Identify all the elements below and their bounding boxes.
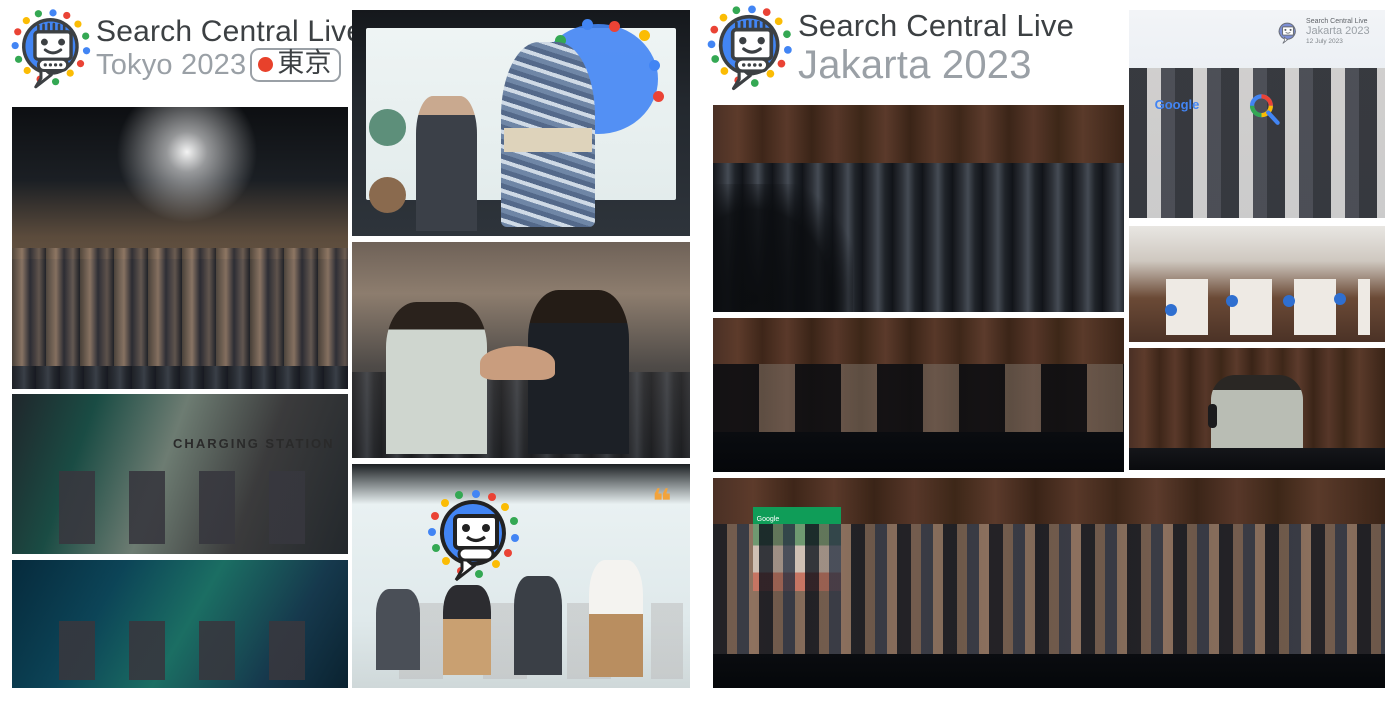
jakarta-panel-discussion-photo (713, 318, 1124, 472)
japan-flag-icon (258, 57, 273, 72)
tote-bag-logo-icon (1283, 295, 1295, 307)
collage-canvas: Search Central Live Tokyo 2023 東京 (0, 0, 1400, 704)
tokyo-title-block: Search Central Live Tokyo 2023 東京 (96, 16, 363, 81)
mascot-graphic-on-screen (426, 486, 526, 586)
quote-mark-icon: ❝ (652, 482, 670, 522)
jakarta-event-header: Search Central Live Jakarta 2023 (706, 2, 1074, 94)
tokyo-charging-station-photo: CHARGING STATION (12, 394, 348, 554)
tokyo-audience-group-photo (12, 107, 348, 389)
speaker-headshot-avatar (369, 109, 406, 145)
auditorium-seats (713, 654, 1385, 688)
yukata-obi-belt (504, 128, 592, 153)
photo-wall-line2: Jakarta 2023 (1306, 26, 1370, 38)
tokyo-title-line1: Search Central Live (96, 16, 363, 48)
jakarta-title-line1: Search Central Live (798, 10, 1074, 43)
tokyo-panel-discussion-photo: ❝ (352, 464, 690, 688)
jakarta-photo-booth-group-photo: Search Central Live Jakarta 2023 12 July… (1129, 10, 1385, 218)
attendee-left (386, 302, 487, 453)
host-speaker (416, 96, 477, 232)
audience-silhouettes (713, 432, 1124, 472)
foreground-blur (713, 184, 853, 312)
tokyo-attendees-heart-hands-photo (352, 242, 690, 458)
microphone-icon (1208, 404, 1217, 428)
photo-wall-date: 12 July 2023 (1306, 38, 1370, 45)
google-prop-label: Google (1155, 97, 1200, 112)
panelist-3 (514, 576, 561, 675)
tokyo-stage-yukata-speaker-photo (352, 10, 690, 236)
tokyo-japanese-badge: 東京 (250, 48, 340, 81)
tokyo-event-header: Search Central Live Tokyo 2023 東京 (10, 6, 363, 92)
jakarta-title-line2: Jakarta 2023 (798, 44, 1074, 86)
google-banner-label: Google (757, 516, 780, 523)
panelist-2 (443, 585, 490, 675)
tokyo-title-line2: Tokyo 2023 東京 (96, 48, 363, 81)
tokyo-subtitle-text: Tokyo 2023 (96, 50, 246, 81)
booth-group-attendees (1129, 68, 1385, 218)
tokyo-japanese-text: 東京 (277, 50, 331, 78)
tokyo-reception-drinks-photo (12, 560, 348, 688)
jakarta-full-group-photo: Google (713, 478, 1385, 688)
standing-attendees (25, 471, 334, 545)
charging-station-sign: CHARGING STATION (173, 436, 335, 451)
jakarta-audience-question-photo (1129, 348, 1385, 470)
jakarta-title-block: Search Central Live Jakarta 2023 (798, 10, 1074, 86)
heart-hands-gesture (480, 346, 554, 381)
search-magnifier-prop-icon (1247, 93, 1281, 127)
panelist-moderator (589, 560, 643, 676)
search-central-mascot-logo (706, 2, 798, 94)
jakarta-swag-bags-photo (1129, 226, 1385, 342)
reception-attendees (25, 621, 334, 680)
search-central-mascot-logo (1275, 19, 1301, 45)
group-attendees (713, 524, 1385, 667)
tote-bags (1144, 279, 1369, 335)
seated-attendees (12, 248, 348, 366)
tote-bag-logo-icon (1334, 293, 1346, 305)
stage-light-flare (107, 107, 267, 232)
photo-wall-branding: Search Central Live Jakarta 2023 12 July… (1275, 18, 1370, 45)
mascot-dot-icon (582, 19, 593, 30)
search-central-mascot-logo (10, 6, 96, 92)
audience-silhouettes (1129, 448, 1385, 470)
jakarta-audience-crowd-photo (713, 105, 1124, 312)
panel-sofas-and-panelists (713, 364, 1124, 438)
panelist-1 (376, 589, 420, 670)
